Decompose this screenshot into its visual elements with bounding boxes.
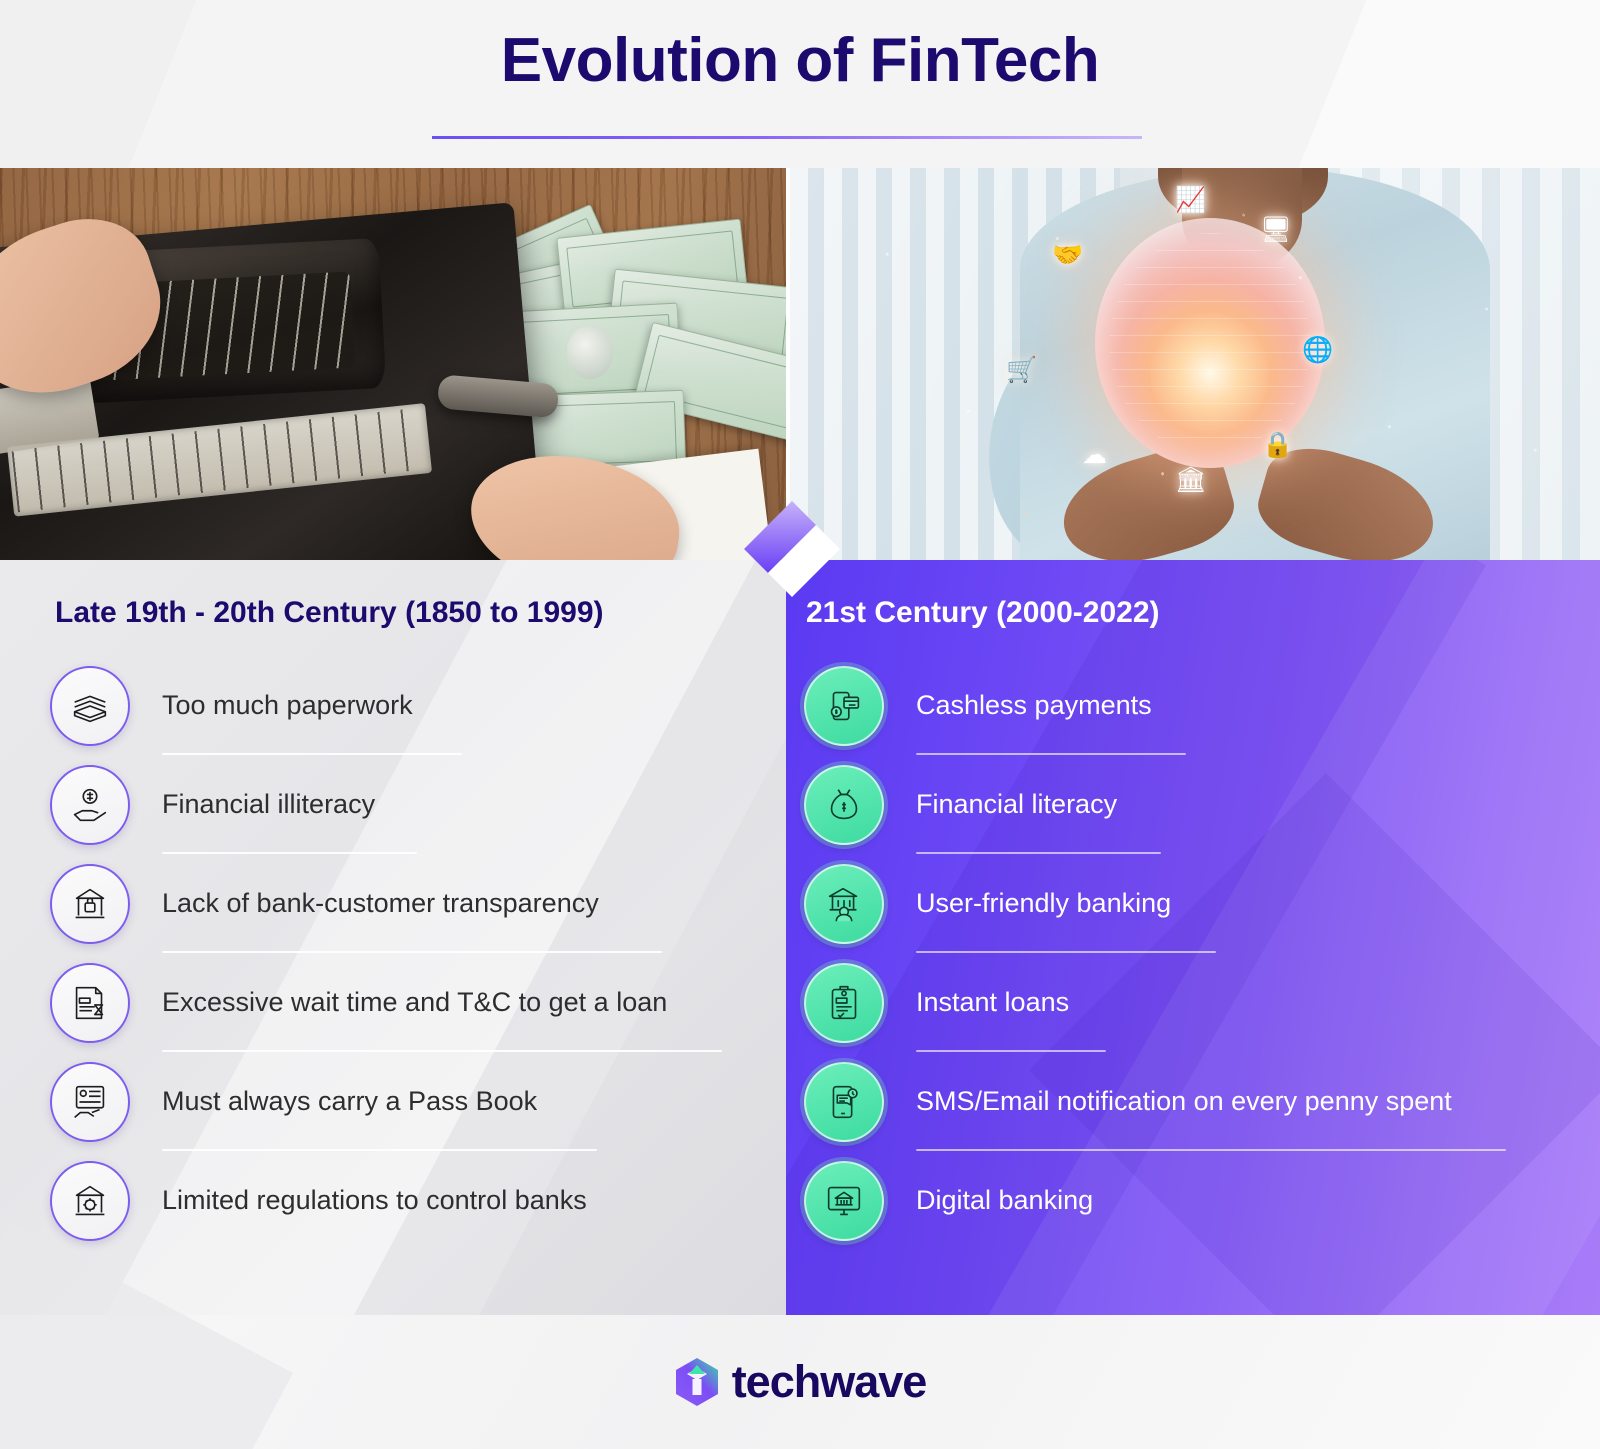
techwave-wordmark: techwave — [732, 1356, 927, 1408]
techwave-logo[interactable]: techwave — [674, 1356, 927, 1408]
bank-icon: 🏛 — [1175, 468, 1207, 493]
panel-21st-century: 21st Century (2000-2022) Cashless paymen… — [786, 560, 1600, 1315]
bank-lock-icon — [50, 864, 130, 944]
right-panel-list: Cashless payments Financial literacy — [804, 656, 1594, 1250]
loan-approved-icon — [804, 963, 884, 1043]
photo-band: 📈 🖥 🤝 🛒 🌐 ☁ 🏛 🔒 — [0, 168, 1600, 560]
list-item-label: Lack of bank-customer transparency — [162, 887, 770, 921]
hand-coin-icon — [50, 765, 130, 845]
loan-hourglass-icon — [50, 963, 130, 1043]
network-dots-overlay — [790, 168, 1600, 560]
list-item-label: Must always carry a Pass Book — [162, 1085, 770, 1119]
list-item-label: SMS/Email notification on every penny sp… — [916, 1085, 1594, 1119]
paper-stack-icon — [50, 666, 130, 746]
footer: techwave — [0, 1315, 1600, 1449]
list-item-label: Financial literacy — [916, 788, 1594, 822]
list-item[interactable]: Financial literacy — [804, 755, 1594, 854]
list-item-label: Digital banking — [916, 1184, 1594, 1218]
techwave-cube-logo-icon — [674, 1357, 720, 1407]
comparison-panels: Late 19th - 20th Century (1850 to 1999) … — [0, 560, 1600, 1315]
money-bag-icon — [804, 765, 884, 845]
list-item[interactable]: Too much paperwork — [50, 656, 770, 755]
list-item[interactable]: SMS/Email notification on every penny sp… — [804, 1052, 1594, 1151]
bar-chart-icon: 📈 — [1175, 188, 1206, 213]
right-panel-heading: 21st Century (2000-2022) — [806, 596, 1160, 630]
monitor-icon: 🖥 — [1260, 218, 1292, 243]
shopping-cart-icon: 🛒 — [1006, 358, 1037, 383]
title-underline — [432, 136, 1142, 139]
list-item[interactable]: Digital banking — [804, 1151, 1594, 1250]
list-item[interactable]: Must always carry a Pass Book — [50, 1052, 770, 1151]
left-panel-list: Too much paperwork Financial illiteracy — [50, 656, 770, 1250]
list-item[interactable]: Lack of bank-customer transparency — [50, 854, 770, 953]
list-item[interactable]: Instant loans — [804, 953, 1594, 1052]
infographic-page: Evolution of FinTech — [0, 0, 1600, 1449]
panel-late-19th-20th-century: Late 19th - 20th Century (1850 to 1999) … — [0, 560, 786, 1315]
list-item-label: Cashless payments — [916, 689, 1594, 723]
bank-gear-icon — [50, 1161, 130, 1241]
monitor-bank-icon — [804, 1161, 884, 1241]
lock-icon: 🔒 — [1262, 433, 1293, 458]
page-title: Evolution of FinTech — [0, 28, 1600, 93]
list-item[interactable]: Cashless payments — [804, 656, 1594, 755]
globe-search-icon: 🌐 — [1302, 338, 1333, 363]
photo-vintage-adding-machine — [0, 168, 786, 560]
left-panel-heading: Late 19th - 20th Century (1850 to 1999) — [55, 596, 604, 630]
list-item[interactable]: Limited regulations to control banks — [50, 1151, 770, 1250]
mobile-notification-icon — [804, 1062, 884, 1142]
list-item-label: Instant loans — [916, 986, 1594, 1020]
cloud-upload-icon: ☁ — [1082, 443, 1107, 468]
header: Evolution of FinTech — [0, 0, 1600, 168]
list-item-label: Excessive wait time and T&C to get a loa… — [162, 986, 770, 1020]
list-item-label: Too much paperwork — [162, 689, 770, 723]
passbook-hand-icon — [50, 1062, 130, 1142]
list-item[interactable]: Financial illiteracy — [50, 755, 770, 854]
photo-digital-globe: 📈 🖥 🤝 🛒 🌐 ☁ 🏛 🔒 — [790, 168, 1600, 560]
list-item-label: Financial illiteracy — [162, 788, 770, 822]
list-item-label: User-friendly banking — [916, 887, 1594, 921]
list-item-label: Limited regulations to control banks — [162, 1184, 770, 1218]
mobile-card-payment-icon — [804, 666, 884, 746]
list-item[interactable]: Excessive wait time and T&C to get a loa… — [50, 953, 770, 1052]
list-item[interactable]: User-friendly banking — [804, 854, 1594, 953]
bank-user-icon — [804, 864, 884, 944]
handshake-icon: 🤝 — [1052, 243, 1083, 268]
